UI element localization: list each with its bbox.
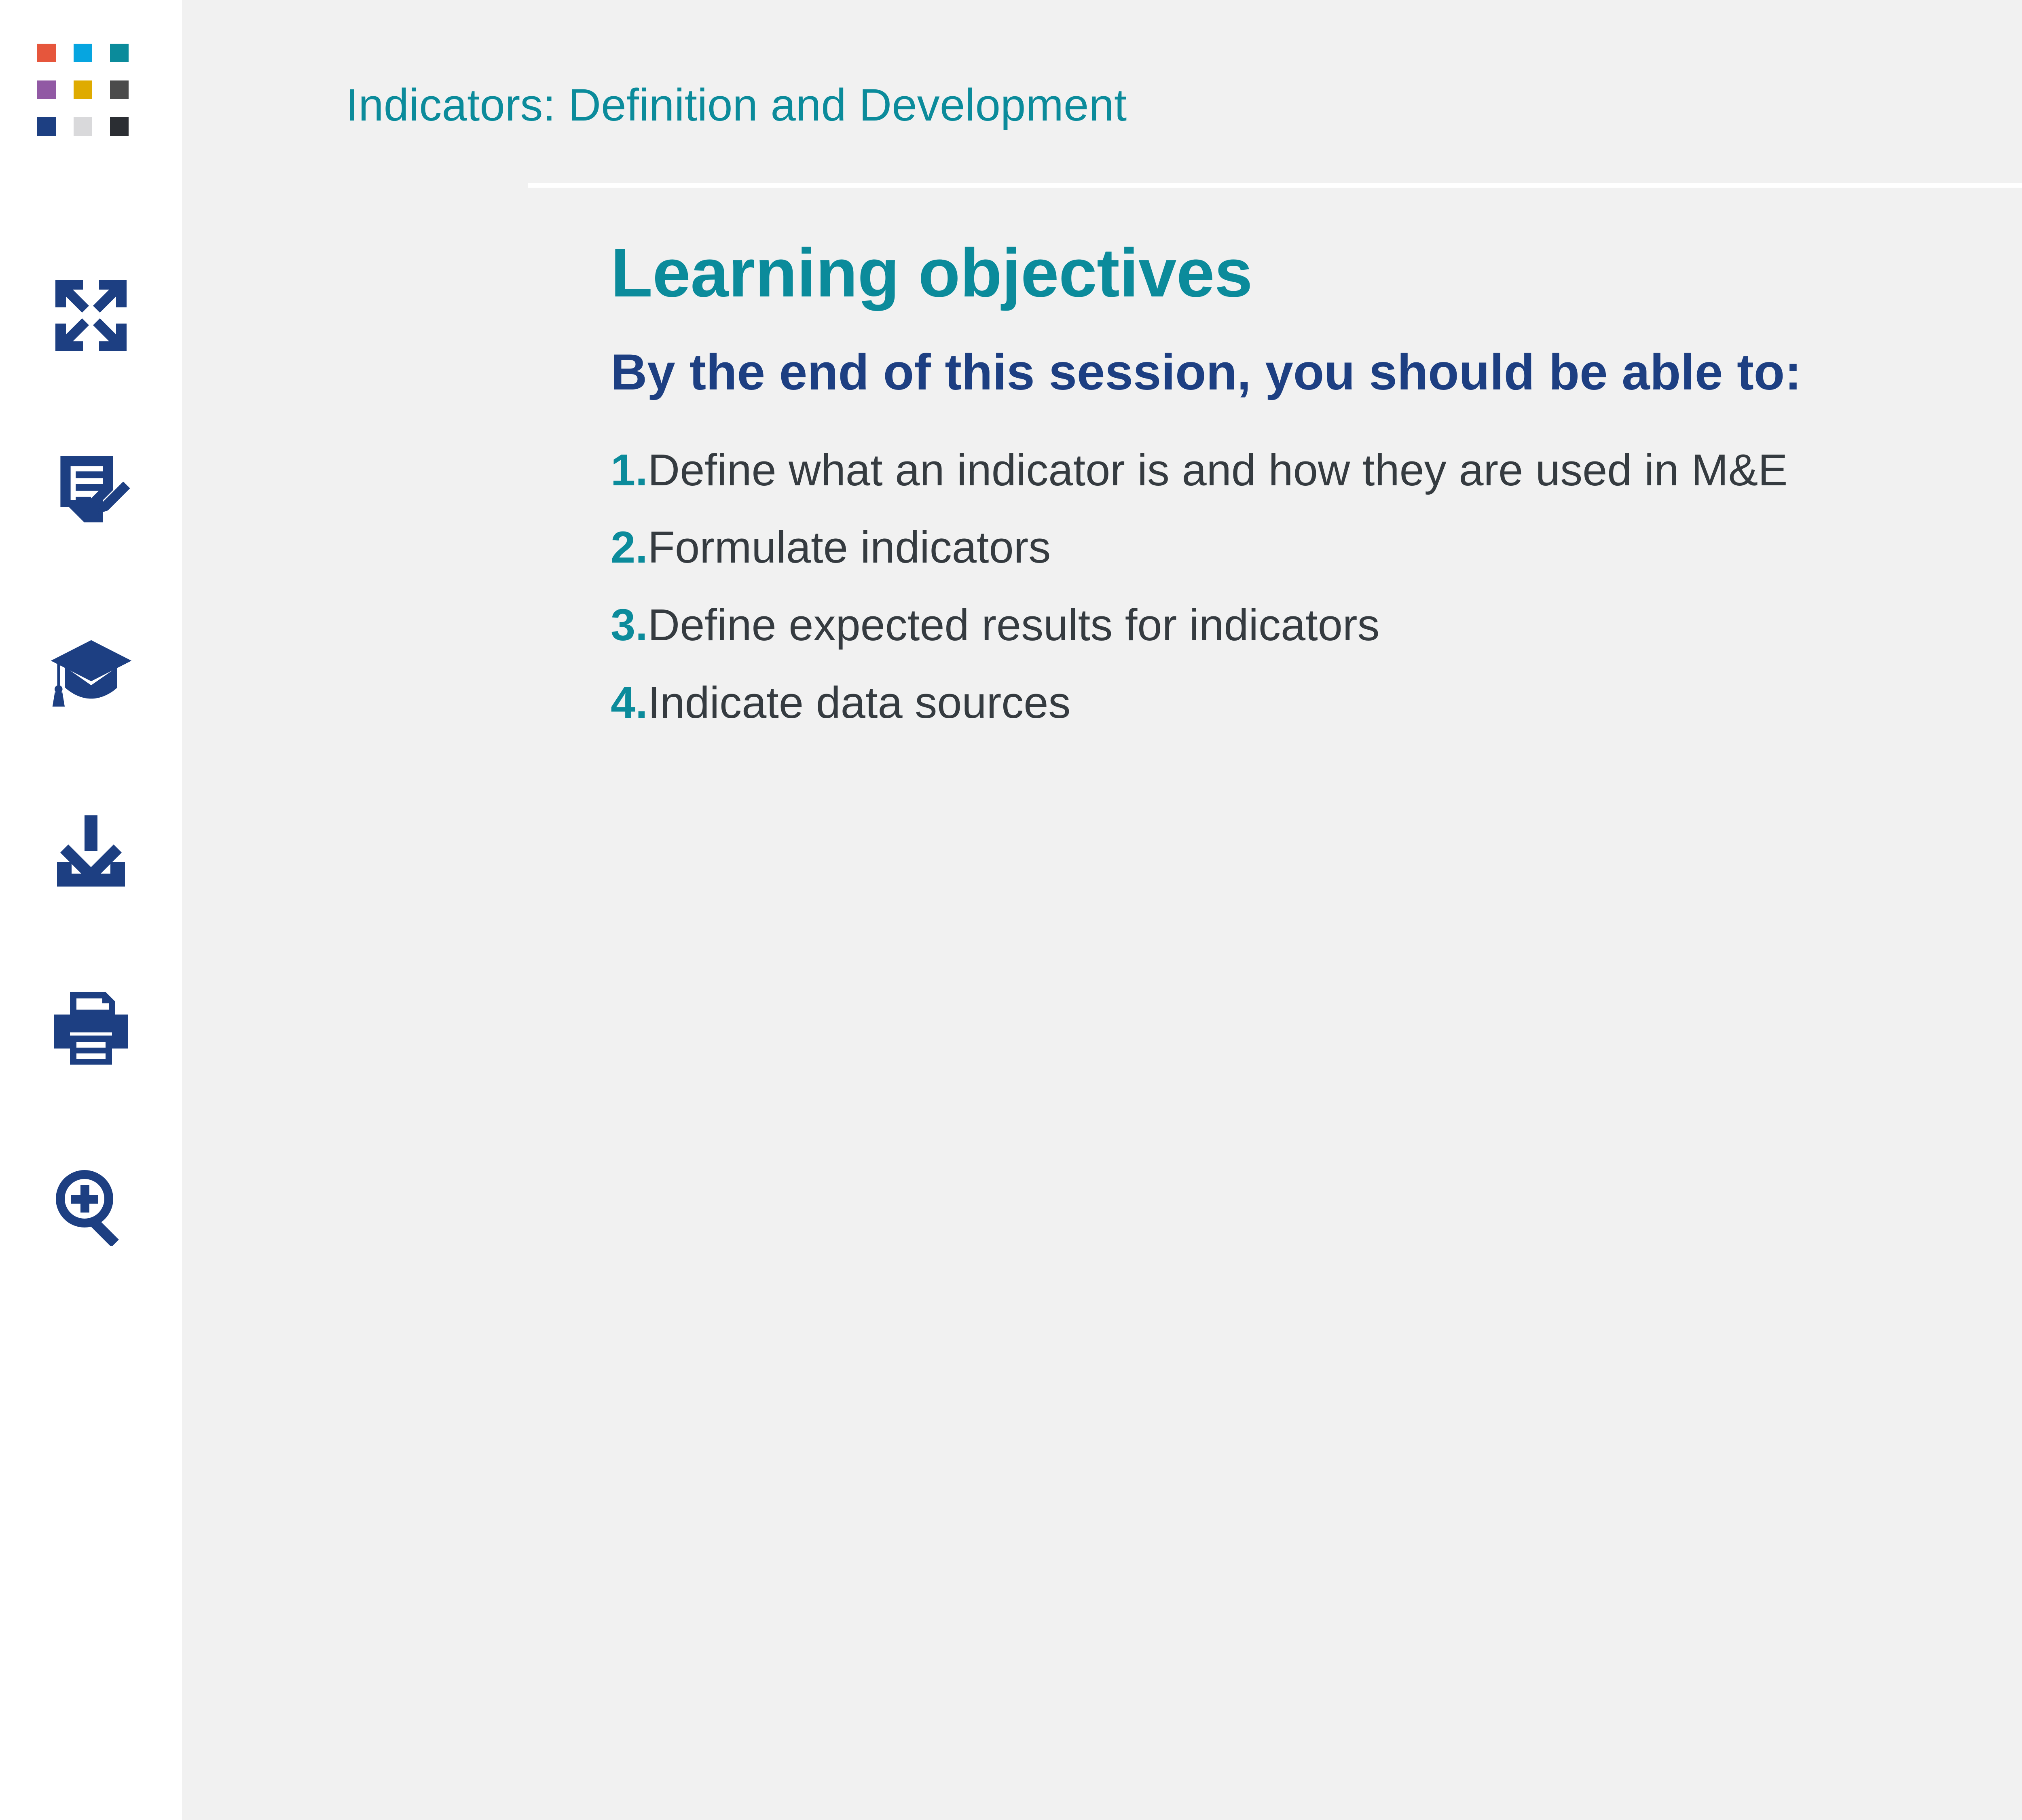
slide-canvas: Indicators: Definition and Development S… (182, 0, 2022, 1820)
logo-tile-light-gray (74, 117, 92, 136)
slide-header: Indicators: Definition and Development S… (346, 75, 2022, 135)
header-divider (528, 183, 2022, 188)
objectives-list: 1. Define what an indicator is and how t… (611, 444, 2022, 729)
print-button[interactable] (0, 938, 182, 1116)
printer-icon (51, 990, 131, 1065)
logo-tile-teal (110, 44, 129, 62)
list-item-number: 2. (611, 521, 648, 574)
list-item-text: Formulate indicators (648, 521, 1051, 574)
slide-viewer: Indicators: Definition and Development S… (0, 0, 2022, 1820)
logo-tile-dark-gray (110, 80, 129, 99)
logo-tile-orange (37, 44, 56, 62)
list-item-text: Define what an indicator is and how they… (648, 444, 1788, 497)
logo-tile-light-blue (74, 44, 92, 62)
list-item: 2. Formulate indicators (611, 521, 2022, 574)
list-item-text: Indicate data sources (648, 677, 1071, 729)
note-edit-icon (49, 451, 133, 536)
list-item-number: 1. (611, 444, 648, 497)
list-item-number: 3. (611, 599, 648, 652)
course-button[interactable] (0, 582, 182, 760)
list-item-number: 4. (611, 677, 648, 729)
tool-list (0, 226, 182, 1294)
logo-tile-purple (37, 80, 56, 99)
list-item: 4. Indicate data sources (611, 677, 2022, 729)
slide-deck-title: Indicators: Definition and Development (346, 83, 1127, 128)
download-icon (51, 809, 131, 890)
download-button[interactable] (0, 760, 182, 938)
slide-subtitle: By the end of this session, you should b… (611, 345, 2022, 400)
logo-tile-near-black (110, 117, 129, 136)
graduation-cap-icon (48, 633, 135, 710)
page-title: Learning objectives (611, 239, 2022, 307)
list-item: 3. Define expected results for indicator… (611, 599, 2022, 652)
tool-sidebar (0, 0, 182, 1820)
brand-logo (37, 44, 134, 137)
list-item: 1. Define what an indicator is and how t… (611, 444, 2022, 497)
notes-button[interactable] (0, 404, 182, 582)
list-item-text: Define expected results for indicators (648, 599, 1380, 652)
slide-content: Learning objectives By the end of this s… (611, 239, 2022, 754)
logo-tile-gold (74, 80, 92, 99)
zoom-in-button[interactable] (0, 1116, 182, 1294)
fullscreen-button[interactable] (0, 226, 182, 404)
magnifier-plus-icon (51, 1165, 131, 1246)
fullscreen-expand-icon (51, 275, 131, 356)
logo-tile-navy (37, 117, 56, 136)
